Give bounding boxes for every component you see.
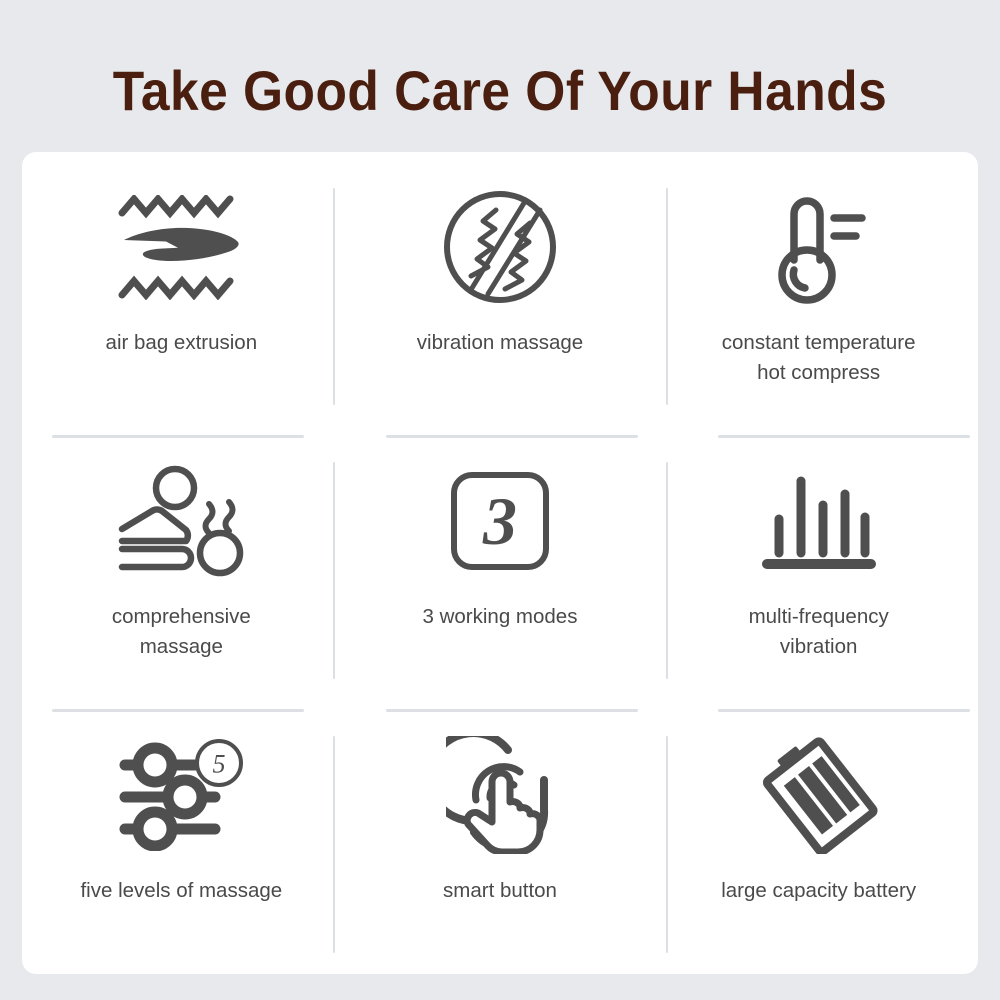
feature-label: comprehensive massage: [104, 602, 259, 663]
features-grid: air bag extrusion vibration massage: [22, 152, 978, 974]
comprehensive-massage-icon: [114, 446, 249, 596]
multi-frequency-vibration-icon: [757, 446, 881, 596]
feature-cell-vibration-massage[interactable]: vibration massage: [341, 152, 660, 426]
vibration-massage-icon: [441, 172, 559, 322]
feature-label: air bag extrusion: [98, 328, 266, 358]
airbag-extrusion-icon: [116, 172, 246, 322]
three-modes-icon: 3: [448, 446, 552, 596]
feature-cell-constant-temperature[interactable]: constant temperature hot compress: [659, 152, 978, 426]
five-levels-badge: 5: [213, 750, 226, 779]
feature-cell-comprehensive-massage[interactable]: comprehensive massage: [22, 426, 341, 700]
smart-button-icon: [446, 720, 554, 870]
slider-levels-icon: 5: [115, 720, 247, 870]
feature-cell-smart-button[interactable]: smart button: [341, 700, 660, 974]
three-modes-badge: 3: [482, 483, 517, 559]
feature-label: vibration massage: [409, 328, 591, 358]
page-title: Take Good Care Of Your Hands: [40, 58, 960, 123]
feature-cell-multi-frequency-vibration: multi-frequency vibration: [659, 426, 978, 700]
feature-cell-large-capacity-battery: large capacity battery: [659, 700, 978, 974]
feature-cell-air-bag-extrusion[interactable]: air bag extrusion: [22, 152, 341, 426]
feature-cell-three-working-modes[interactable]: 3 3 working modes: [341, 426, 660, 700]
feature-label: large capacity battery: [713, 876, 924, 906]
features-card: air bag extrusion vibration massage: [22, 152, 978, 974]
feature-label: 3 working modes: [415, 602, 586, 632]
feature-label: five levels of massage: [72, 876, 290, 906]
battery-icon: [759, 720, 879, 870]
feature-label: multi-frequency vibration: [741, 602, 897, 663]
feature-cell-five-levels[interactable]: 5 five levels of massage: [22, 700, 341, 974]
thermometer-icon: [764, 172, 874, 322]
feature-label: constant temperature hot compress: [714, 328, 924, 389]
feature-label: smart button: [435, 876, 565, 906]
